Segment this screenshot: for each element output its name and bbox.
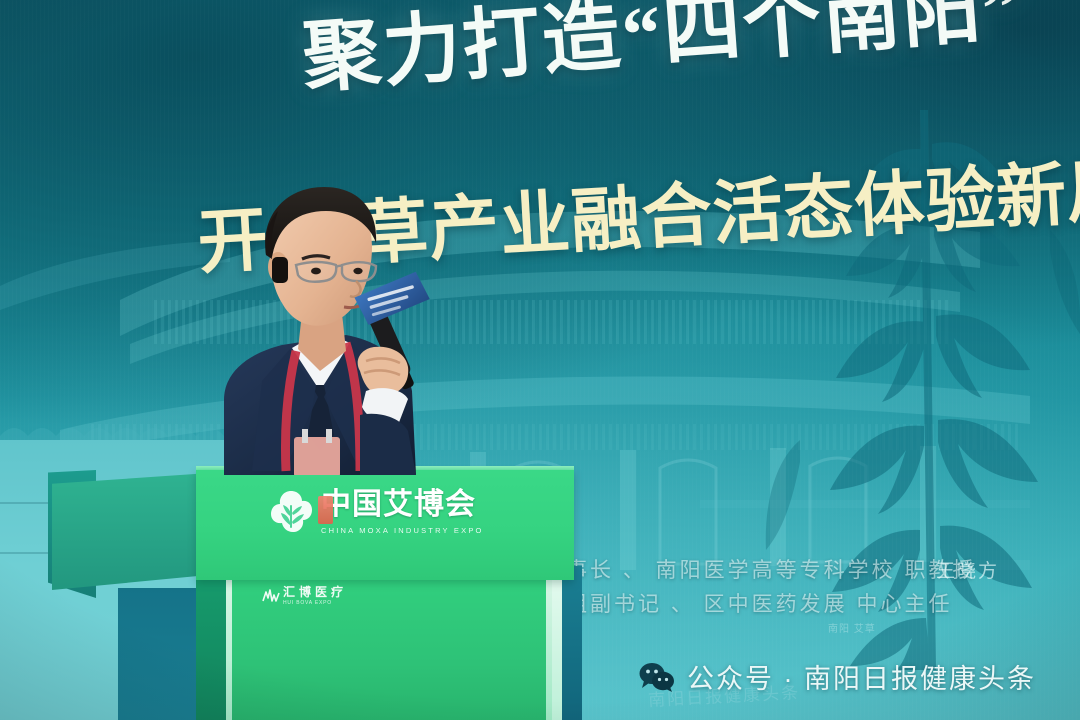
watermark-text: 公众号 · 南阳日报健康头条 [687, 657, 1036, 696]
photo-vignette [0, 0, 1080, 720]
watermark: 公众号 · 南阳日报健康头条 [638, 657, 1036, 696]
photo-scene: 聚力打造“四个南阳” 开 艾草产业融合活态体验新局面 业协会监事长 、 南阳医学… [0, 0, 1080, 720]
wechat-icon [638, 662, 676, 692]
